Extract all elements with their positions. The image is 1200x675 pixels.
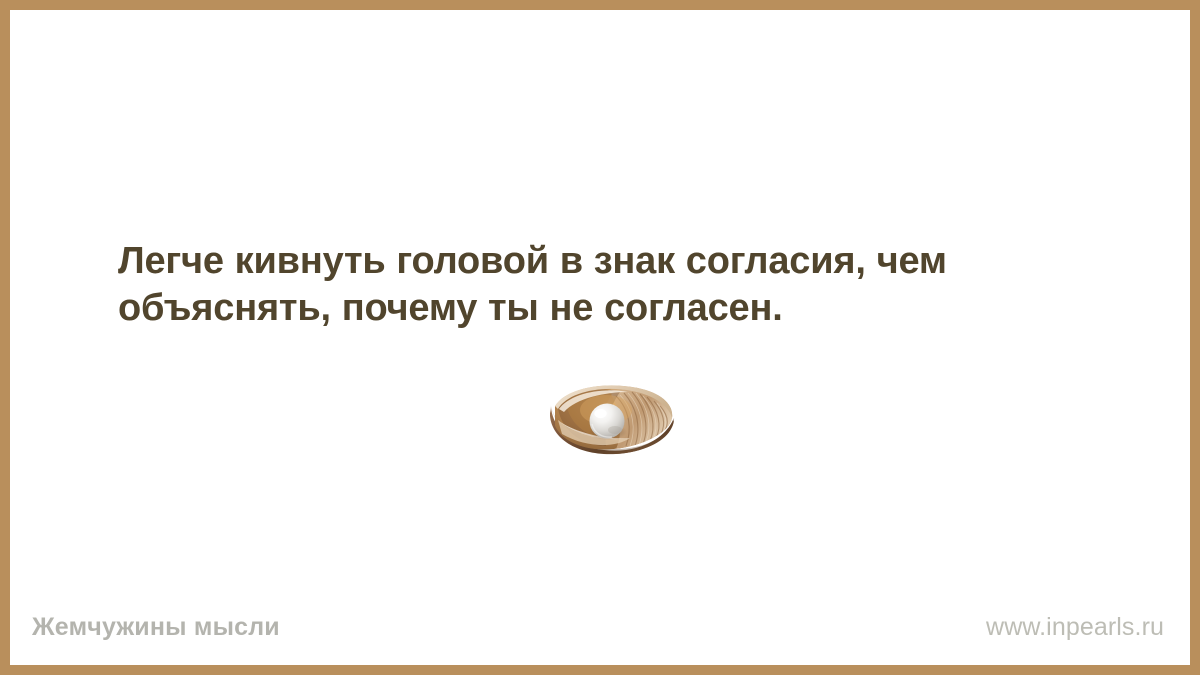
oyster-shell-with-pearl-icon — [546, 376, 678, 456]
site-name: Жемчужины мысли — [32, 613, 280, 642]
pearl-icon — [590, 404, 625, 439]
site-url[interactable]: www.inpearls.ru — [986, 613, 1164, 642]
quote-line-2: объяснять, почему ты не согласен. — [118, 285, 1108, 332]
quote-line-1: Легче кивнуть головой в знак согласия, ч… — [118, 238, 1108, 285]
footer: Жемчужины мысли www.inpearls.ru — [10, 599, 1190, 665]
quote-card: Легче кивнуть головой в знак согласия, ч… — [0, 0, 1200, 675]
oyster-shell-with-pearl-illustration — [546, 376, 678, 456]
quote-block: Легче кивнуть головой в знак согласия, ч… — [118, 238, 1108, 332]
